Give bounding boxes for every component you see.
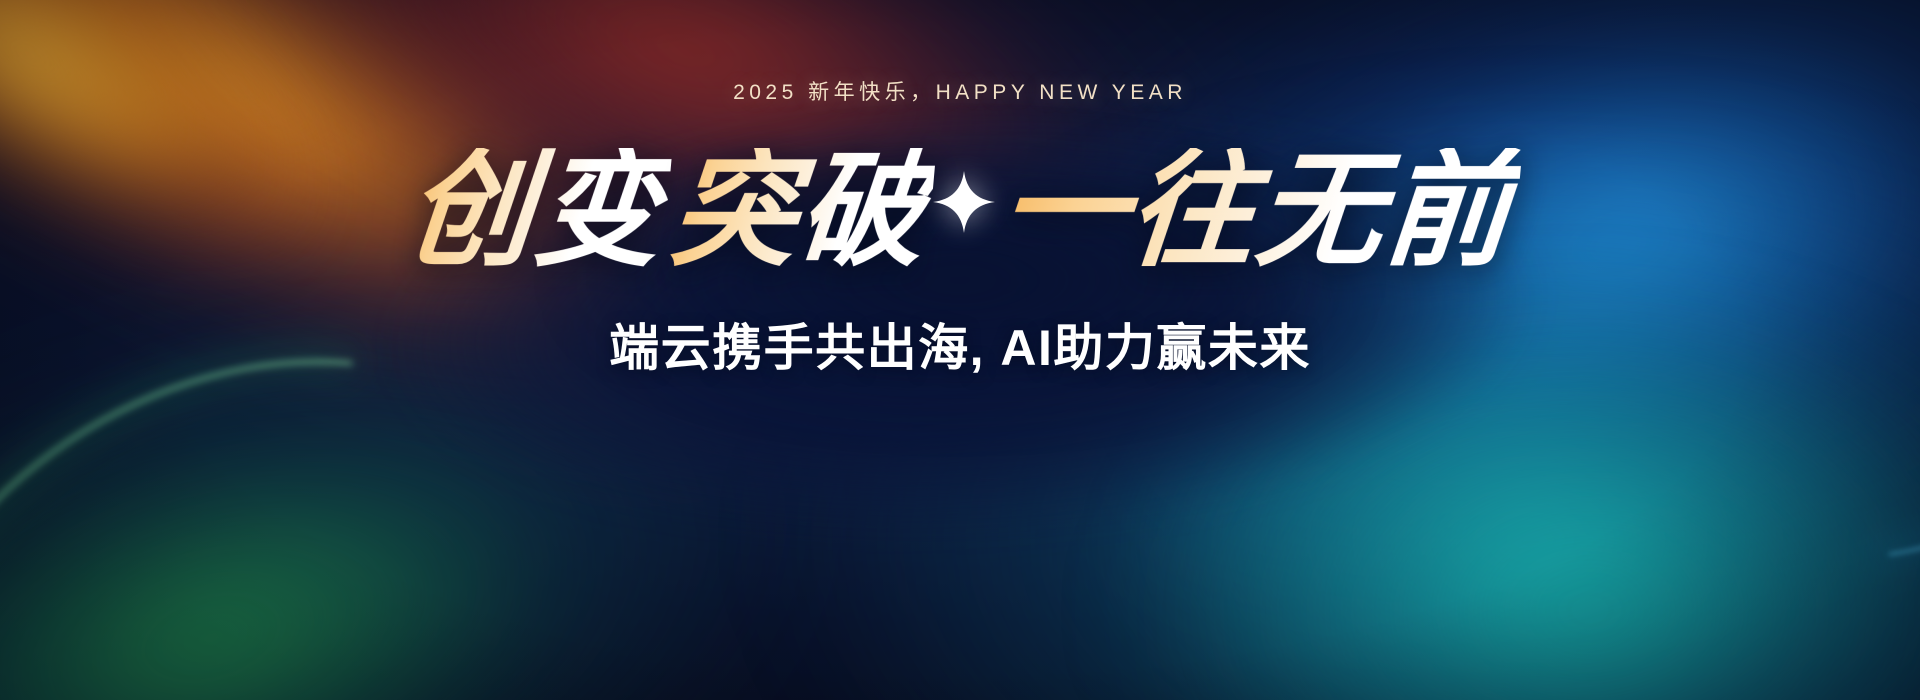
headline-part-1: 创变 bbox=[397, 148, 672, 274]
headline-part-2: 突破 bbox=[661, 148, 936, 274]
sparkle-icon bbox=[933, 171, 995, 233]
headline-part-3: 一往无前 bbox=[991, 148, 1522, 274]
banner-content: 2025 新年快乐，HAPPY NEW YEAR 创变 突破 一往无前 端云携手… bbox=[0, 0, 1920, 700]
headline-group: 创变 突破 一往无前 bbox=[403, 148, 1517, 274]
eyebrow-text: 2025 新年快乐，HAPPY NEW YEAR bbox=[733, 76, 1187, 106]
new-year-banner: 2025 新年快乐，HAPPY NEW YEAR 创变 突破 一往无前 端云携手… bbox=[0, 0, 1920, 700]
subtitle-text: 端云携手共出海, AI助力赢未来 bbox=[609, 308, 1311, 380]
